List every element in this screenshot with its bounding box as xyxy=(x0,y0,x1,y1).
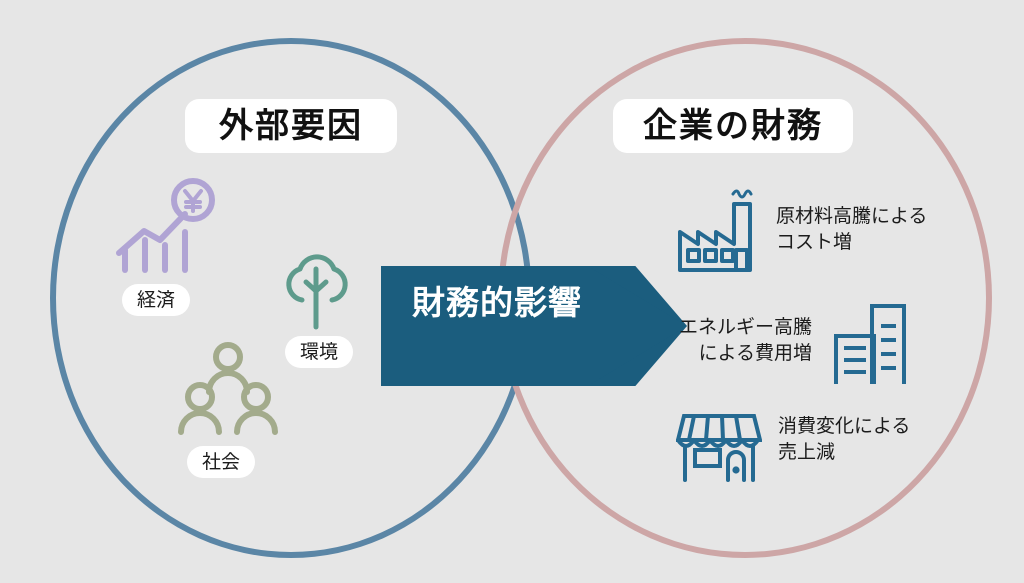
factory-icon xyxy=(676,186,760,274)
pill-environment: 環境 xyxy=(285,336,353,368)
financial-impact-arrow xyxy=(381,266,687,386)
impact-sales-label: 消費変化による 売上減 xyxy=(778,414,910,466)
infographic-canvas: 財務的影響 外部要因 企業の財務 経済 xyxy=(0,0,1024,583)
pill-society: 社会 xyxy=(187,446,255,478)
office-buildings-icon xyxy=(828,296,912,386)
impact-sales-decline: 消費変化による 売上減 xyxy=(676,398,910,482)
tree-icon xyxy=(277,243,355,331)
corporate-finance-title: 企業の財務 xyxy=(613,99,853,153)
growth-chart-yen-icon xyxy=(113,178,215,276)
factor-society xyxy=(178,340,278,440)
storefront-icon xyxy=(676,398,762,482)
factor-economy xyxy=(113,178,215,276)
pill-economy: 経済 xyxy=(122,284,190,316)
impact-raw-material-cost: 原材料高騰による コスト増 xyxy=(676,186,927,274)
external-factors-title: 外部要因 xyxy=(185,99,397,153)
impact-raw-material-label: 原材料高騰による コスト増 xyxy=(776,204,927,256)
right-arrow-icon xyxy=(381,266,687,386)
impact-energy-cost: エネルギー高騰 による費用増 xyxy=(679,296,912,386)
factor-environment xyxy=(277,243,355,331)
impact-energy-label: エネルギー高騰 による費用増 xyxy=(679,315,812,367)
people-group-icon xyxy=(178,340,278,440)
